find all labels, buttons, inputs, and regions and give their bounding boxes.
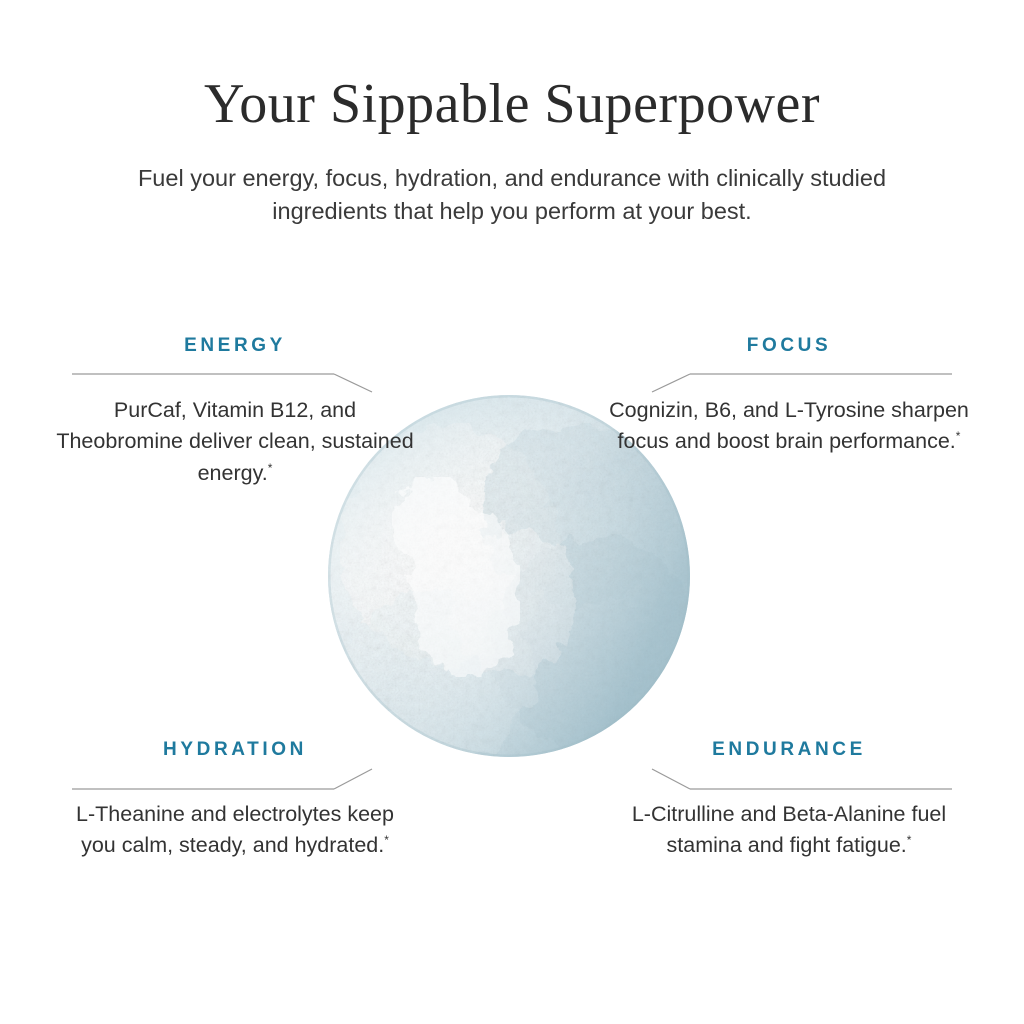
benefit-body-energy: PurCaf, Vitamin B12, and Theobromine del… [40,395,430,489]
benefit-body-text-hydration: L-Theanine and electrolytes keep you cal… [76,802,394,857]
benefit-heading-hydration: HYDRATION [40,740,430,759]
footnote-marker-endurance: * [907,833,912,847]
benefit-body-focus: Cognizin, B6, and L-Tyrosine sharpen foc… [594,395,984,458]
connector-line-hydration [40,765,430,799]
benefit-body-text-focus: Cognizin, B6, and L-Tyrosine sharpen foc… [609,398,969,453]
benefit-body-text-endurance: L-Citrulline and Beta-Alanine fuel stami… [632,802,946,857]
connector-line-focus [594,361,984,395]
benefit-block-hydration: HYDRATION L-Theanine and electrolytes ke… [40,740,430,862]
product-benefits-infographic: Your Sippable Superpower Fuel your energ… [0,0,1024,1024]
benefit-block-energy: ENERGY PurCaf, Vitamin B12, and Theobrom… [40,336,430,489]
page-subtitle: Fuel your energy, focus, hydration, and … [84,162,940,229]
benefit-heading-endurance: ENDURANCE [594,740,984,759]
connector-line-energy [40,361,430,395]
benefit-heading-focus: FOCUS [594,336,984,355]
benefit-block-endurance: ENDURANCE L-Citrulline and Beta-Alanine … [594,740,984,862]
footnote-marker-focus: * [956,429,961,443]
benefit-block-focus: FOCUS Cognizin, B6, and L-Tyrosine sharp… [594,336,984,458]
benefit-body-hydration: L-Theanine and electrolytes keep you cal… [40,799,430,862]
footnote-marker-hydration: * [384,833,389,847]
page-title: Your Sippable Superpower [0,72,1024,136]
benefit-heading-energy: ENERGY [40,336,430,355]
connector-line-endurance [594,765,984,799]
footnote-marker-energy: * [268,461,273,475]
benefit-body-endurance: L-Citrulline and Beta-Alanine fuel stami… [594,799,984,862]
benefit-body-text-energy: PurCaf, Vitamin B12, and Theobromine del… [56,398,413,485]
